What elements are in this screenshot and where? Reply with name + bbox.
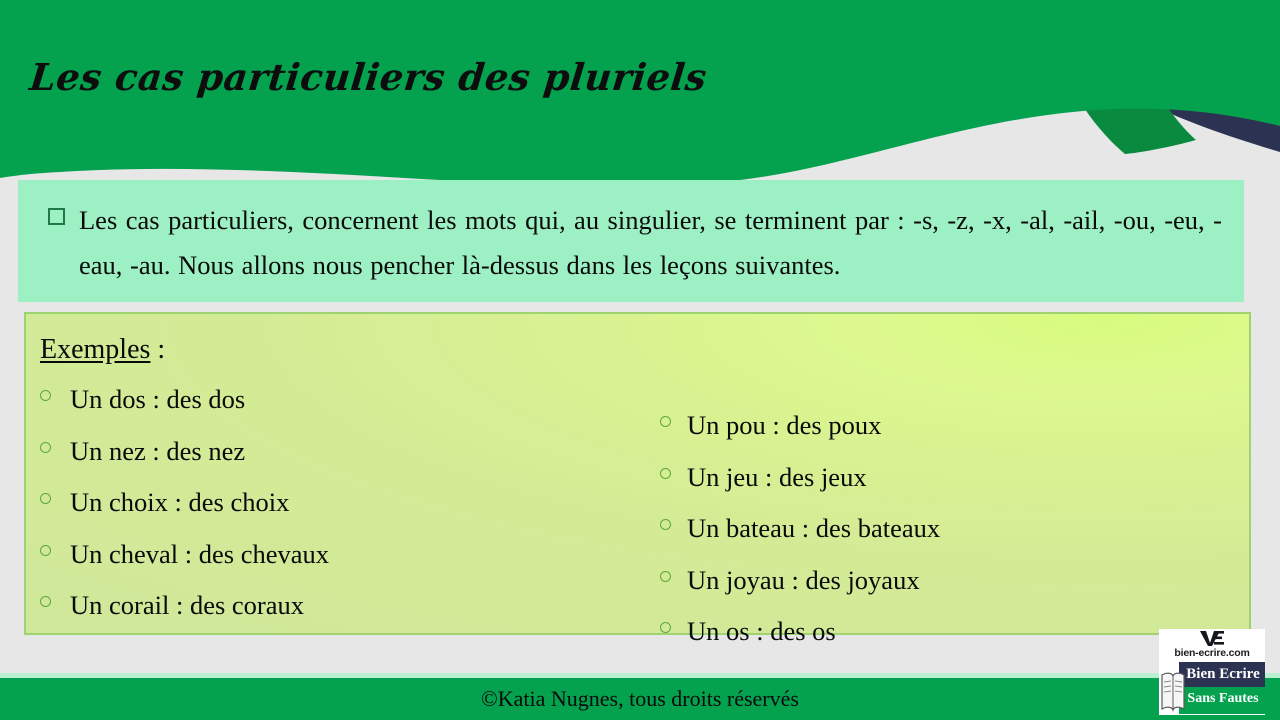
intro-text: Les cas particuliers, concernent les mot… [79, 198, 1222, 288]
circle-bullet-icon [40, 596, 51, 607]
circle-bullet-icon [40, 442, 51, 453]
list-item: Un corail : des coraux [40, 580, 640, 632]
intro-row: Les cas particuliers, concernent les mot… [36, 198, 1222, 288]
examples-left-column: Un dos : des dos Un nez : des nez Un cho… [26, 374, 640, 658]
bien-ecrire-logo[interactable]: bien-ecrire.com Bien Ecrire Sans Fautes [1159, 629, 1265, 715]
list-item-label: Un pou : des poux [687, 400, 881, 452]
list-item: Un jeu : des jeux [660, 452, 1240, 504]
list-item: Un pou : des poux [660, 400, 1240, 452]
list-item-label: Un nez : des nez [70, 426, 245, 478]
list-item: Un nez : des nez [40, 426, 640, 478]
examples-heading-label: Exemples [40, 334, 150, 365]
examples-box: Exemples : Un dos : des dos Un nez : des… [24, 312, 1251, 635]
logo-domain-label: bien-ecrire.com [1159, 647, 1265, 659]
list-item-label: Un bateau : des bateaux [687, 503, 940, 555]
slide-canvas: Les cas particuliers des pluriels Les ca… [0, 0, 1280, 720]
circle-bullet-icon [40, 545, 51, 556]
circle-bullet-icon [660, 468, 671, 479]
navy-corner-shape [1075, 0, 1280, 152]
circle-bullet-icon [660, 571, 671, 582]
circle-bullet-icon [40, 390, 51, 401]
examples-heading: Exemples : [40, 332, 1249, 368]
list-item-label: Un joyau : des joyaux [687, 555, 920, 607]
intro-callout-box: Les cas particuliers, concernent les mot… [18, 180, 1244, 302]
list-item-label: Un cheval : des chevaux [70, 529, 329, 581]
circle-bullet-icon [660, 519, 671, 530]
examples-right-column: Un pou : des poux Un jeu : des jeux Un b… [640, 374, 1240, 658]
examples-heading-colon: : [150, 334, 165, 365]
list-item: Un dos : des dos [40, 374, 640, 426]
examples-columns: Un dos : des dos Un nez : des nez Un cho… [26, 374, 1249, 658]
open-book-icon [1161, 669, 1185, 713]
dark-green-accent-shape [1040, 0, 1196, 154]
list-item: Un joyau : des joyaux [660, 555, 1240, 607]
list-item-label: Un jeu : des jeux [687, 452, 867, 504]
circle-bullet-icon [660, 416, 671, 427]
list-item-label: Un os : des os [687, 606, 836, 658]
logo-line2-label: Sans Fautes [1183, 691, 1263, 707]
square-bullet-icon [48, 208, 65, 225]
list-item: Un os : des os [660, 606, 1240, 658]
list-item-label: Un choix : des choix [70, 477, 289, 529]
footer-copyright: ©Katia Nugnes, tous droits réservés [0, 678, 1280, 720]
page-title: Les cas particuliers des pluriels [28, 54, 710, 100]
circle-bullet-icon [40, 493, 51, 504]
circle-bullet-icon [660, 622, 671, 633]
list-item-label: Un corail : des coraux [70, 580, 304, 632]
list-item-label: Un dos : des dos [70, 374, 245, 426]
logo-line1-label: Bien Ecrire [1183, 666, 1263, 683]
list-item: Un bateau : des bateaux [660, 503, 1240, 555]
list-item: Un cheval : des chevaux [40, 529, 640, 581]
ve-monogram-icon [1199, 630, 1225, 647]
list-item: Un choix : des choix [40, 477, 640, 529]
